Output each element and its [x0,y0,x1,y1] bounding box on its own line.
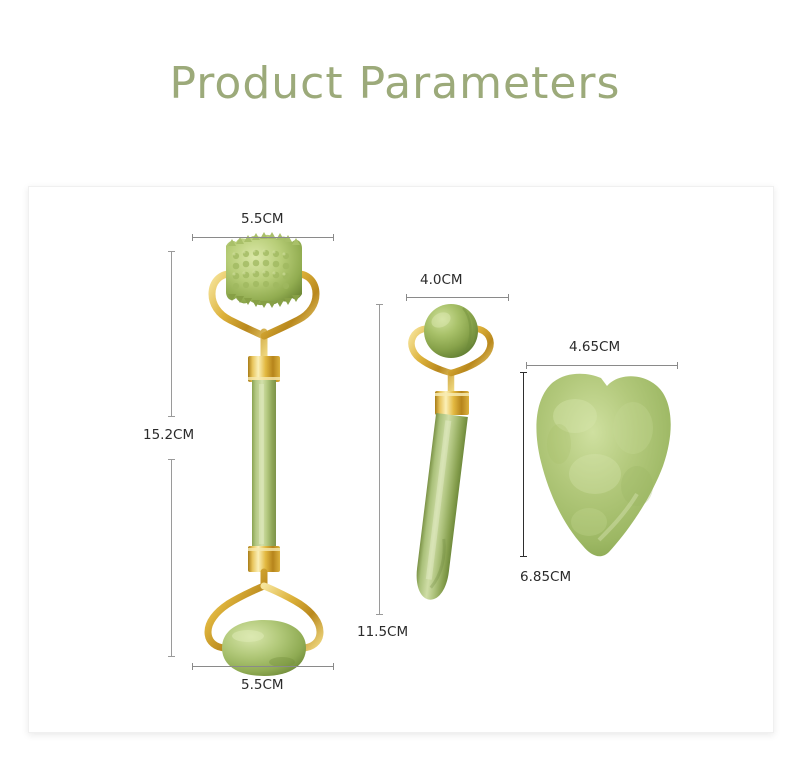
ball-roller-jade-handle [413,413,467,602]
top-head-spiky-jade-roller [226,232,302,308]
dim-line-ball-head-width [406,297,509,298]
dim-label-ball-head-width: 4.0CM [420,272,463,288]
dim-label-roller-top-width: 5.5CM [241,211,284,227]
dim-line-ball-total-length [379,304,380,615]
bottom-head-oval-jade-roller [222,620,306,676]
double-jade-roller-graphic [184,232,344,677]
dim-line-roller-length-upper [171,251,172,417]
single-jade-roller-graphic [399,299,509,624]
dim-line-gua-sha-height [523,372,524,557]
page-title: Product Parameters [0,58,790,109]
dim-line-roller-top-width [192,237,334,238]
dim-label-gua-sha-height: 6.85CM [520,569,571,585]
dim-line-roller-length-lower [171,459,172,657]
dim-line-roller-bottom-width [192,666,334,667]
dim-label-ball-total-length: 11.5CM [357,624,408,640]
dim-label-roller-bottom-width: 5.5CM [241,677,284,693]
gua-sha-heart-jade [536,374,670,557]
ball-roller-jade-sphere [424,304,478,358]
product-card: 5.5CM 15.2CM 5.5CM [28,186,774,733]
product-parameters-image: Product Parameters [0,0,790,781]
dim-label-gua-sha-width: 4.65CM [569,339,620,355]
dim-line-gua-sha-width [526,365,678,366]
dim-label-roller-total-length: 15.2CM [143,427,194,443]
gua-sha-stone-graphic [529,370,689,565]
